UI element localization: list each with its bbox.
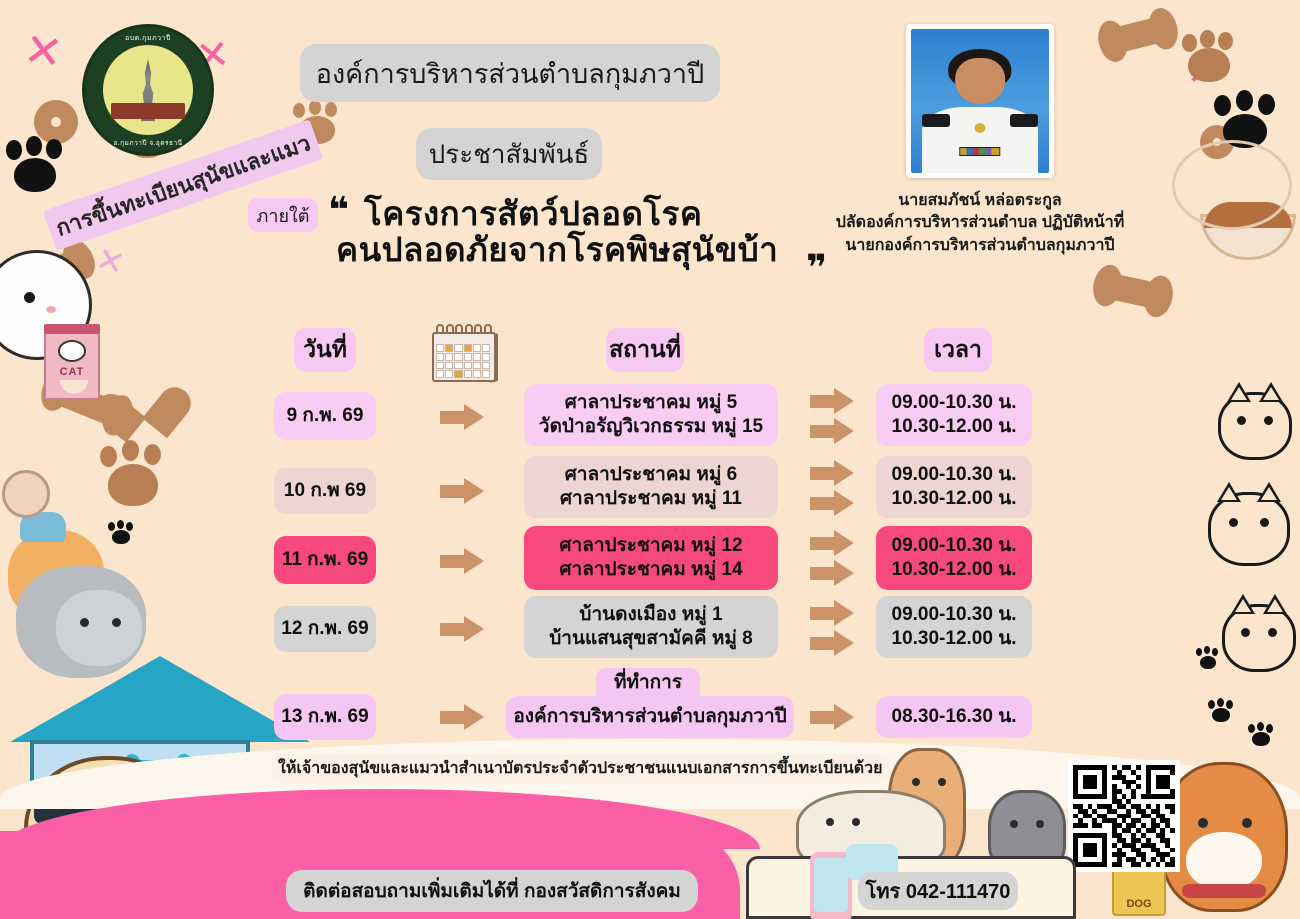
arrow-right-icon [810, 460, 854, 486]
arrow-right-icon [810, 600, 854, 626]
arrow-right-icon [810, 490, 854, 516]
row-place-line2: ศาลาประชาคม หมู่ 11 [560, 487, 742, 511]
phone-number-label: โทร 042-111470 [866, 875, 1011, 907]
logo-bottom-text: อ.กุมภวาปี จ.อุดรธานี [85, 138, 211, 148]
food-bowl-decor [1200, 214, 1296, 260]
cat-eye [1268, 628, 1277, 637]
announcement-label: ประชาสัมพันธ์ [429, 134, 589, 175]
column-header-date: วันที่ [294, 328, 356, 372]
arrow-right-icon [810, 530, 854, 556]
gray-cat-bottom-eye [1010, 820, 1018, 828]
row-time-line1: 09.00-10.30 น. [892, 391, 1017, 415]
table-row-place: บ้านดงเมือง หมู่ 1 บ้านแสนสุขสามัคคี หมู… [524, 596, 778, 658]
row-time-line1: 08.30-16.30 น. [892, 705, 1017, 729]
white-cat-eye [24, 292, 35, 303]
bone-cookie-decor [1108, 16, 1169, 55]
table-row-date: 11 ก.พ. 69 [274, 536, 376, 584]
row-place-line2: บ้านแสนสุขสามัคคี หมู่ 8 [549, 627, 753, 651]
arrow-right-icon [440, 478, 484, 504]
official-portrait-frame [906, 24, 1054, 178]
row-time-line1: 09.00-10.30 น. [892, 534, 1017, 558]
gray-cat-bottom-eye [1036, 820, 1044, 828]
official-position-line1: ปลัดองค์การบริหารส่วนตำบล ปฏิบัติหน้าที่ [812, 212, 1148, 234]
lineart-cat-illustration [1222, 604, 1296, 672]
white-cat-nose [46, 306, 56, 313]
portrait-epaulet [922, 114, 950, 127]
row-date-label: 10 ก.พ 69 [284, 479, 366, 503]
cat-food-bag-face [58, 340, 86, 362]
row-time-line2: 10.30-12.00 น. [892, 558, 1017, 582]
official-position-line2: นายกองค์การบริหารส่วนตำบลกุมภวาปี [812, 235, 1148, 257]
under-chip: ภายใต้ [248, 198, 318, 232]
row-time-line2: 10.30-12.00 น. [892, 487, 1017, 511]
paw-print-icon [1248, 724, 1274, 748]
table-row-place-sublabel: ที่ทำการ [596, 668, 700, 698]
corgi-collar [1182, 884, 1266, 898]
x-mark-icon: ✕ [1186, 50, 1221, 92]
arrow-right-icon [810, 418, 854, 444]
table-row-time: 09.00-10.30 น. 10.30-12.00 น. [876, 596, 1032, 658]
stupa-base [111, 103, 185, 119]
cat-food-bag: CAT [44, 330, 100, 400]
table-row-place: ศาลาประชาคม หมู่ 12 ศาลาประชาคม หมู่ 14 [524, 526, 778, 590]
cat-ear-icon [1257, 482, 1281, 502]
column-header-place-label: สถานที่ [609, 332, 681, 368]
corgi-muzzle [1186, 832, 1262, 890]
logo-inner-disc [103, 45, 194, 136]
arrow-right-icon [810, 388, 854, 414]
official-info: นายสมภัชน์ หล่อตระกูล ปลัดองค์การบริหารส… [812, 190, 1148, 257]
cat-eye [1229, 518, 1238, 527]
org-name-label: องค์การบริหารส่วนตำบลกุมภวาปี [316, 52, 704, 95]
table-row-time: 09.00-10.30 น. 10.30-12.00 น. [876, 456, 1032, 518]
row-place-line1: ศาลาประชาคม หมู่ 12 [559, 534, 742, 558]
quote-open-icon: ❝ [328, 190, 349, 231]
official-portrait-photo [911, 29, 1049, 173]
paw-print-icon [1208, 700, 1234, 724]
paw-print-icon [1196, 648, 1220, 670]
org-name-chip: องค์การบริหารส่วนตำบลกุมภวาปี [300, 44, 720, 102]
table-row-time: 08.30-16.30 น. [876, 696, 1032, 738]
cat-food-bag-label: CAT [46, 366, 98, 378]
calendar-icon [428, 322, 500, 384]
cookie-ring-decor [34, 100, 78, 144]
row-time-line2: 10.30-12.00 น. [892, 627, 1017, 651]
cat-food-bag-top [44, 324, 100, 334]
gray-cat-eye [80, 618, 89, 627]
corgi-eye [1198, 818, 1208, 828]
bone-cookie-decor [1103, 272, 1163, 309]
cat-paw-raised [2, 470, 50, 518]
arrow-right-icon [440, 404, 484, 430]
column-header-place: สถานที่ [606, 328, 684, 372]
dog-food-bag-label: DOG [1112, 898, 1166, 910]
cat-ear-icon [1231, 594, 1255, 614]
contact-info-label: ติดต่อสอบถามเพิ่มเติมได้ที่ กองสวัสดิการ… [303, 876, 681, 906]
table-row-date: 10 ก.พ 69 [274, 468, 376, 514]
qr-code-grid [1073, 765, 1175, 867]
arrow-right-icon [440, 548, 484, 574]
org-logo: อบต.กุมภวาปี อ.กุมภวาปี จ.อุดรธานี [82, 24, 214, 156]
doghouse-roof [10, 656, 310, 742]
note-line-1: ให้เจ้าของสุนัขและแมวนำสำเนาบัตรประจำตัว… [272, 754, 889, 783]
paw-print-icon [108, 522, 134, 546]
row-date-label: 13 ก.พ. 69 [281, 705, 368, 729]
cookie-ring-decor [1200, 125, 1234, 159]
row-date-label: 12 ก.พ. 69 [281, 617, 368, 641]
row-date-label: 9 ก.พ. 69 [287, 404, 364, 428]
portrait-face [955, 58, 1005, 104]
row-time-line1: 09.00-10.30 น. [892, 463, 1017, 487]
calico-cat-eye [826, 818, 834, 826]
column-header-time: เวลา [924, 328, 992, 372]
logo-top-text: อบต.กุมภวาปี [85, 33, 211, 44]
row-place-line1: ที่ทำการ [614, 671, 682, 695]
cat-ear-icon [1259, 382, 1283, 402]
gray-cat-face [56, 590, 142, 666]
table-row-date: 9 ก.พ. 69 [274, 392, 376, 440]
heart-cookie-decor [109, 367, 174, 427]
poster-root: ✕ ✕ ✕ ✕ [0, 0, 1300, 919]
paw-print-icon [6, 138, 66, 196]
arrow-right-icon [440, 616, 484, 642]
tabby-cat-eye [938, 778, 946, 786]
row-time-line2: 10.30-12.00 น. [892, 415, 1017, 439]
table-row-time: 09.00-10.30 น. 10.30-12.00 น. [876, 384, 1032, 446]
table-row-date: 12 ก.พ. 69 [274, 606, 376, 652]
announcement-chip: ประชาสัมพันธ์ [416, 128, 602, 180]
calendar-grid [436, 344, 490, 378]
lineart-cat-illustration [1208, 492, 1290, 566]
row-place-line1: ศาลาประชาคม หมู่ 6 [565, 463, 737, 487]
table-row-date: 13 ก.พ. 69 [274, 694, 376, 740]
contact-info-chip: ติดต่อสอบถามเพิ่มเติมได้ที่ กองสวัสดิการ… [286, 870, 698, 912]
arrow-right-icon [810, 560, 854, 586]
table-row-place: ศาลาประชาคม หมู่ 6 ศาลาประชาคม หมู่ 11 [524, 456, 778, 518]
cat-ear-icon [1227, 382, 1251, 402]
row-place-line2: ศาลาประชาคม หมู่ 14 [559, 558, 742, 582]
lineart-cat-illustration [1218, 392, 1292, 460]
row-time-line1: 09.00-10.30 น. [892, 603, 1017, 627]
table-row-time: 09.00-10.30 น. 10.30-12.00 น. [876, 526, 1032, 590]
table-row-place: องค์การบริหารส่วนตำบลกุมภวาปี [506, 696, 794, 738]
official-name: นายสมภัชน์ หล่อตระกูล [812, 190, 1148, 212]
row-place-line1: บ้านดงเมือง หมู่ 1 [579, 603, 722, 627]
row-place-line2: องค์การบริหารส่วนตำบลกุมภวาปี [513, 705, 786, 729]
cat-eye [1241, 628, 1250, 637]
cat-ear-icon [1263, 594, 1287, 614]
project-title-line2: คนปลอดภัยจากโรคพิษสุนัขบ้า [336, 232, 834, 268]
portrait-ribbon-bar [959, 147, 1000, 156]
project-title-line1: โครงการสัตว์ปลอดโรค [364, 196, 834, 232]
dog-outline-decor [1172, 140, 1292, 230]
qr-code-icon[interactable] [1068, 760, 1180, 872]
calico-cat-eye [852, 818, 860, 826]
cat-eye [1264, 416, 1273, 425]
x-mark-icon: ✕ [21, 26, 66, 77]
arrow-right-icon [810, 704, 854, 730]
arrow-right-icon [440, 704, 484, 730]
column-header-time-label: เวลา [934, 332, 982, 368]
portrait-epaulet [1010, 114, 1038, 127]
column-header-date-label: วันที่ [303, 332, 347, 368]
table-row-place: ศาลาประชาคม หมู่ 5 วัดป่าอรัญวิเวกธรรม ห… [524, 384, 778, 446]
arrow-right-icon [810, 630, 854, 656]
row-place-line1: ศาลาประชาคม หมู่ 5 [565, 391, 737, 415]
cat-eye [1260, 518, 1269, 527]
gray-cat-eye [112, 618, 121, 627]
row-date-label: 11 ก.พ. 69 [282, 548, 368, 572]
x-mark-icon: ✕ [92, 242, 128, 282]
paw-cookie-decor [1178, 30, 1240, 88]
project-title: โครงการสัตว์ปลอดโรค คนปลอดภัยจากโรคพิษสุ… [364, 196, 834, 267]
tabby-cat-eye [912, 778, 920, 786]
cat-eye [1237, 416, 1246, 425]
paw-print-icon [1214, 92, 1278, 152]
row-place-line2: วัดป่าอรัญวิเวกธรรม หมู่ 15 [539, 415, 763, 439]
paw-cookie-decor [96, 440, 170, 512]
cat-food-bag-bowl [60, 380, 88, 394]
corgi-eye [1242, 818, 1252, 828]
under-label: ภายใต้ [257, 201, 310, 230]
cat-ear-icon [1217, 482, 1241, 502]
phone-number-chip: โทร 042-111470 [858, 872, 1018, 910]
food-bowl-kibble [1204, 202, 1292, 228]
